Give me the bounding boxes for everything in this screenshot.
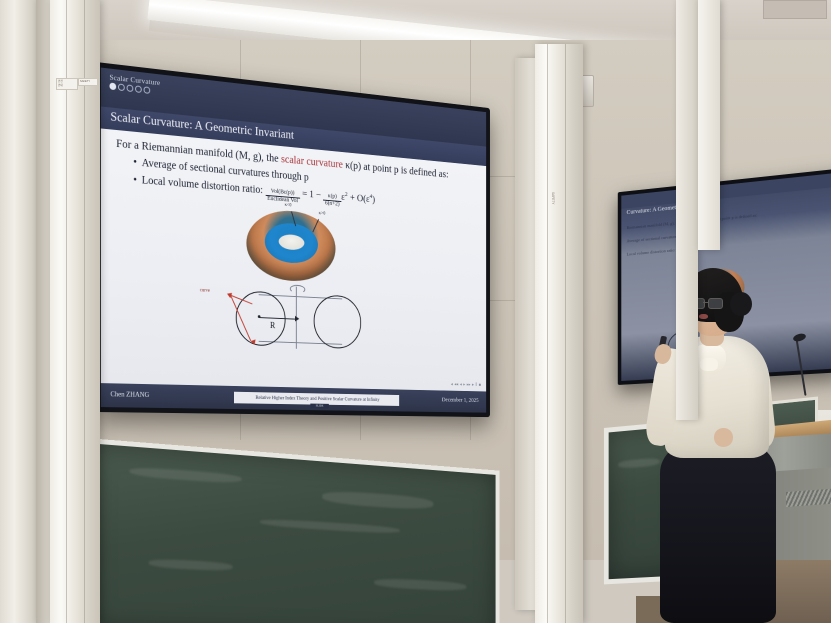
chalkboard-left [86,438,500,623]
cross-section-circle-right [314,294,361,349]
progress-dot [127,84,133,91]
progress-dot [109,83,115,90]
center-pillar-back [515,58,537,610]
cross-section-figure: R curve [220,286,386,351]
nav-stop-icon[interactable]: ■ [479,382,481,387]
torus-figure: κ<0 κ>0 [239,201,342,289]
progress-dot [135,85,141,92]
intro-highlight: scalar curvature [281,154,343,171]
slide-body: For a Riemannian manifold (M, g), the sc… [101,128,486,391]
formula-close-paren: ) [372,195,375,205]
formula-fraction-2: κ(p) 6(n+2) [323,193,341,208]
speaker-bow [700,358,718,371]
ceiling-vent [763,0,827,19]
center-pillar: SAFETY [535,44,583,623]
formula-bigo: + O(ε [350,193,370,205]
nav-next-frame-icon[interactable]: ▸▸ [467,382,471,387]
center-pillar-label: SAFETY [551,192,555,204]
pillar-label-left: 안전안내 [56,78,78,90]
speaker-mouth [699,314,708,319]
bullet-dot-icon: • [133,156,141,169]
left-pillar-shadow-strip [36,0,50,623]
speaker-hand-right [714,428,733,447]
nav-first-icon[interactable]: ◂ [451,382,453,387]
progress-dot [144,86,150,93]
bullet-dot-icon: • [133,174,141,187]
torus-outer-label: κ>0 [319,211,326,216]
podium-vent-icon [786,488,831,507]
nav-next-icon[interactable]: ▸ [463,382,465,387]
formula-epsilon-exponent: 2 [345,191,348,198]
left-pillar: 안전안내 SAFETY [50,0,100,623]
radius-label: R [270,320,275,330]
lecture-hall-photo: Scalar Curvature Scalar Curvature: A Geo… [0,0,831,623]
footer-slide-badge: SLIDE [310,404,329,409]
nav-prev-frame-icon[interactable]: ◂◂ [454,382,458,387]
torus-inner-label: κ<0 [285,203,292,208]
left-wall-edge [0,0,36,623]
formula-rhs-1: = 1 − [302,189,321,201]
fraction-denominator: 6(n+2) [323,200,341,208]
secondary-line-3: Local volume distortion ratio: [627,247,676,256]
nav-last-icon[interactable]: ▸ [472,382,474,387]
beamer-navigation-bar[interactable]: ◂ ◂◂ ◂ ▸ ▸▸ ▸ ‖ ■ [451,382,481,388]
speaker-skirt [660,440,776,623]
footer-author: Chen ZHANG [110,390,149,399]
formula-fraction-1: Vol(Bε(p)) Euclidean Vol [265,188,299,205]
red-annotation-label: curve [200,288,210,293]
nav-pause-icon[interactable]: ‖ [475,382,477,387]
rotation-arrow-icon [290,284,305,293]
pillar-label-right: SAFETY [78,78,98,86]
main-presentation-screen[interactable]: Scalar Curvature Scalar Curvature: A Geo… [96,62,490,417]
progress-dot [118,83,124,90]
right-pillar-outer [698,0,720,250]
right-pillar [676,0,698,420]
footer-date: December 1, 2025 [442,397,479,404]
intro-after: κ(p) at point p is defined as: [343,160,449,181]
speaker-hair-bun [730,292,752,316]
nav-prev-icon[interactable]: ◂ [460,382,462,387]
screen-surface: Scalar Curvature Scalar Curvature: A Geo… [101,68,486,413]
radius-arrowhead [295,315,299,321]
